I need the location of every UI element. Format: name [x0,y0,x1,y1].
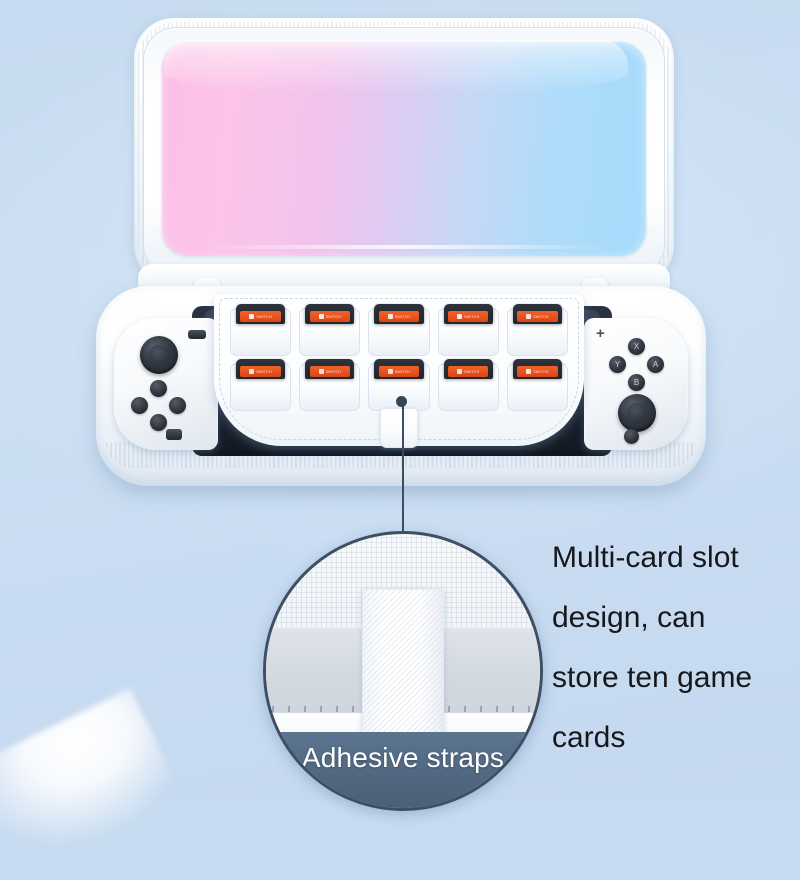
game-card-slot: SWITCH [368,308,429,356]
game-card-text: SWITCH [256,315,271,319]
lid-gradient-panel [162,42,646,256]
adhesive-strap-tab [380,408,418,448]
game-card-label: SWITCH [310,311,350,322]
case-lid [134,18,674,286]
callout-footer-label: Adhesive straps [302,742,504,774]
game-card: SWITCH [236,304,285,324]
y-button-icon: Y [609,356,626,373]
carrying-case: + X Y A B SWITCHSWITCHSWITCHSWITCHSWITCH… [96,18,706,488]
game-card-text: SWITCH [256,370,271,374]
callout-anchor-dot [396,396,407,407]
game-card-label: SWITCH [448,366,488,377]
game-card-logo-icon [249,369,254,374]
capture-button-icon [166,429,182,440]
game-card-slot: SWITCH [438,308,499,356]
game-card-logo-icon [526,314,531,319]
game-card-slot: SWITCH [438,363,499,411]
game-card-slot: SWITCH [507,363,568,411]
right-analog-stick-icon [618,394,656,432]
game-card-slot: SWITCH [507,308,568,356]
plus-button-icon: + [596,326,605,341]
magnified-detail-circle: Adhesive straps [263,531,543,811]
game-card-label: SWITCH [448,311,488,322]
game-card-text: SWITCH [533,315,548,319]
game-card-logo-icon [457,369,462,374]
game-card: SWITCH [305,359,354,379]
game-card-label: SWITCH [310,366,350,377]
game-card: SWITCH [374,359,423,379]
game-card-label: SWITCH [517,366,557,377]
dpad-up-button-icon [150,380,167,397]
game-card: SWITCH [513,304,562,324]
b-button-label: B [628,374,645,391]
game-card-logo-icon [319,369,324,374]
game-card-logo-icon [249,314,254,319]
game-card-slot: SWITCH [299,308,360,356]
x-button-label: X [628,338,645,355]
game-card-logo-icon [388,314,393,319]
game-card-text: SWITCH [395,370,410,374]
game-card-holder-flap: SWITCHSWITCHSWITCHSWITCHSWITCHSWITCHSWIT… [214,294,584,446]
caption-line: cards [552,708,800,768]
game-card-label: SWITCH [379,366,419,377]
game-card-text: SWITCH [533,370,548,374]
dpad-left-button-icon [131,397,148,414]
game-card: SWITCH [513,359,562,379]
callout-leader-line [402,402,404,532]
right-joycon: + X Y A B [584,318,688,450]
game-card-logo-icon [457,314,462,319]
game-card-slot: SWITCH [230,308,291,356]
game-card-text: SWITCH [395,315,410,319]
game-card-label: SWITCH [240,311,280,322]
caption-line: store ten game [552,648,800,708]
game-card: SWITCH [305,304,354,324]
dpad-down-button-icon [150,414,167,431]
caption-text: Multi-card slotdesign, canstore ten game… [552,528,800,768]
caption-line: Multi-card slot [552,528,800,588]
game-card-logo-icon [319,314,324,319]
game-card-logo-icon [526,369,531,374]
game-card-label: SWITCH [240,366,280,377]
game-card-text: SWITCH [326,370,341,374]
game-card: SWITCH [444,304,493,324]
left-joycon [114,318,218,450]
home-button-icon [624,429,639,444]
x-button-icon: X [628,338,645,355]
product-image-stage: + X Y A B SWITCHSWITCHSWITCHSWITCHSWITCH… [0,0,800,800]
game-card-logo-icon [388,369,393,374]
a-button-label: A [647,356,664,373]
game-card: SWITCH [236,359,285,379]
callout-footer: Adhesive straps [266,732,540,808]
game-card-slot: SWITCH [299,363,360,411]
game-card-text: SWITCH [326,315,341,319]
game-card-label: SWITCH [517,311,557,322]
game-card-label: SWITCH [379,311,419,322]
y-button-label: Y [609,356,626,373]
a-button-icon: A [647,356,664,373]
game-card: SWITCH [374,304,423,324]
dpad-right-button-icon [169,397,186,414]
left-analog-stick-icon [140,336,178,374]
game-card-text: SWITCH [464,315,479,319]
game-card-text: SWITCH [464,370,479,374]
game-card: SWITCH [444,359,493,379]
minus-button-icon [188,330,206,339]
game-card-slot: SWITCH [230,363,291,411]
b-button-icon: B [628,374,645,391]
caption-line: design, can [552,588,800,648]
